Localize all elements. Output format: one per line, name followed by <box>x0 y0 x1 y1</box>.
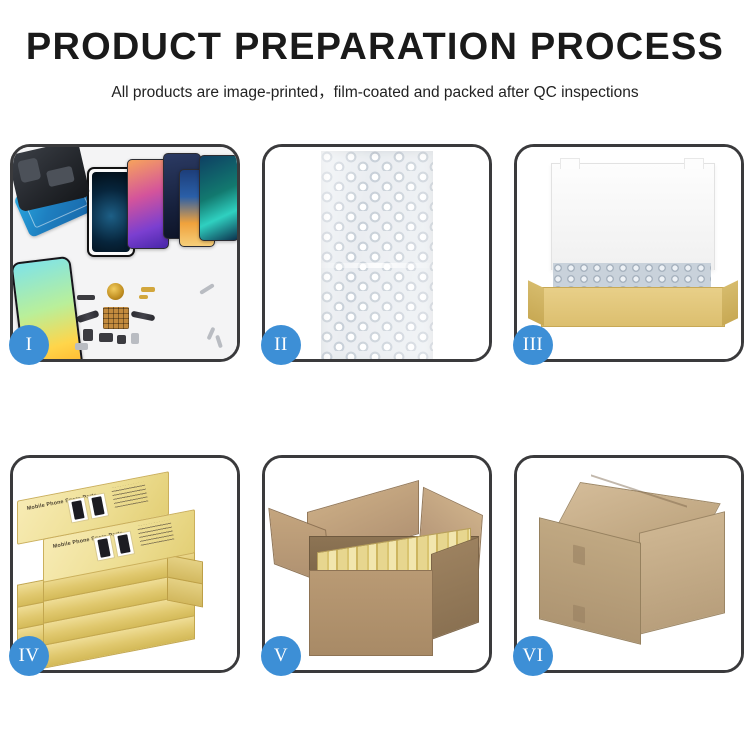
part-tool <box>199 283 215 295</box>
stacked-retail-boxes-icon: Mobile Phone Spare Parts Mobile Phone Sp… <box>13 458 237 670</box>
mailer-lid-shape <box>551 163 715 270</box>
part-gold-clip-2 <box>139 295 148 299</box>
sealed-carton-icon <box>517 458 741 670</box>
part-chip-array <box>103 307 129 329</box>
mailer-base-shape <box>541 287 725 327</box>
card-image-clip-2 <box>265 147 489 359</box>
phone-parts-icon <box>13 147 237 359</box>
part-connector <box>77 295 95 300</box>
step-badge-4: IV <box>9 636 49 676</box>
part-camera-module <box>83 329 93 341</box>
card-image-clip-6 <box>517 458 741 670</box>
process-steps-grid: I II III <box>10 144 740 673</box>
sealed-carton-tape-2 <box>573 605 585 624</box>
process-step-card-3: III <box>514 144 744 362</box>
open-mailer-box-icon <box>517 147 741 359</box>
part-screw-2 <box>215 335 223 349</box>
card-image-clip-5 <box>265 458 489 670</box>
process-step-card-1: I <box>10 144 240 362</box>
process-step-card-5: V <box>262 455 492 673</box>
card-image-clip-1 <box>13 147 237 359</box>
page-header: PRODUCT PREPARATION PROCESS All products… <box>0 0 750 102</box>
bubble-wrap-icon <box>265 147 489 359</box>
process-step-card-4: Mobile Phone Spare Parts Mobile Phone Sp… <box>10 455 240 673</box>
part-button <box>117 335 126 344</box>
part-flex-cable-2 <box>131 311 156 322</box>
part-sim-tray <box>75 343 88 350</box>
process-step-card-2: II <box>262 144 492 362</box>
card-image-clip-3 <box>517 147 741 359</box>
mailer-bubble-fill-shape <box>553 263 711 289</box>
bubble-wrap-sheet-shape <box>321 151 433 359</box>
part-metal-shield <box>131 333 139 344</box>
bubble-wrap-seam-shape <box>321 263 433 268</box>
part-screw-1 <box>207 327 216 341</box>
open-carton-icon <box>265 458 489 670</box>
step-badge-6: VI <box>513 636 553 676</box>
step-badge-1: I <box>9 325 49 365</box>
part-speaker-coil <box>107 283 124 300</box>
card-image-clip-4: Mobile Phone Spare Parts Mobile Phone Sp… <box>13 458 237 670</box>
page-subtitle: All products are image-printed，film-coat… <box>0 80 750 102</box>
step-badge-3: III <box>513 325 553 365</box>
carton-front-panel-shape <box>309 570 433 656</box>
step-badge-2: II <box>261 325 301 365</box>
part-bracket <box>99 333 113 342</box>
part-flex-cable <box>76 310 99 323</box>
step-badge-5: V <box>261 636 301 676</box>
part-gold-clip <box>141 287 155 292</box>
sealed-carton-side-shape <box>639 511 725 634</box>
carton-side-panel-shape <box>431 537 479 640</box>
process-step-card-6: VI <box>514 455 744 673</box>
sealed-carton-tape-1 <box>573 545 585 566</box>
page-title: PRODUCT PREPARATION PROCESS <box>0 28 750 68</box>
teal-phone-shape <box>199 155 237 241</box>
